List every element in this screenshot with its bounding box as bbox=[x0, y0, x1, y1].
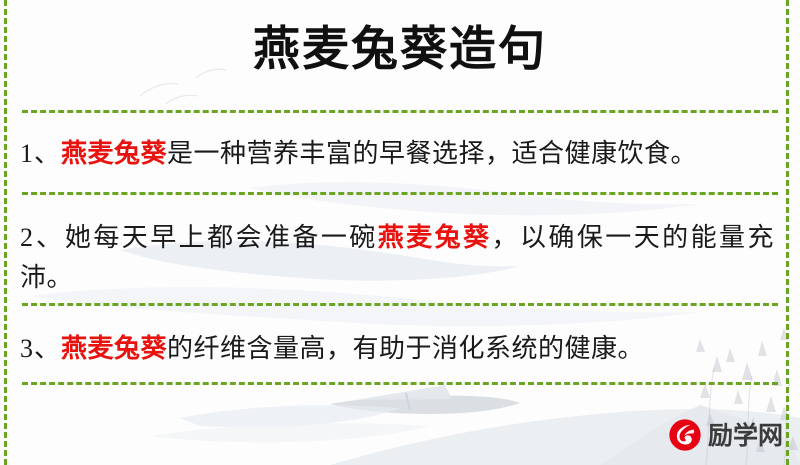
sentence-number-3: 3、 bbox=[20, 334, 61, 363]
keyword-highlight-3: 燕麦兔葵 bbox=[61, 334, 167, 363]
sentence-item-3: 3、燕麦兔葵的纤维含量高，有助于消化系统的健康。 bbox=[20, 329, 774, 369]
divider-3 bbox=[22, 303, 778, 306]
sentence-number-2: 2、 bbox=[20, 223, 65, 252]
sentence-text-before-2: 她每天早上都会准备一碗 bbox=[65, 223, 378, 252]
sentence-text-after-3: 的纤维含量高，有助于消化系统的健康。 bbox=[167, 334, 644, 363]
sentence-number-1: 1、 bbox=[20, 139, 61, 168]
flame-swirl-logo-icon bbox=[668, 418, 702, 452]
site-watermark: 励学网 bbox=[668, 418, 783, 452]
worksheet-page: 燕麦兔葵造句 1、燕麦兔葵是一种营养丰富的早餐选择，适合健康饮食。 2、她每天早… bbox=[0, 0, 800, 465]
sentence-text-after-1: 是一种营养丰富的早餐选择，适合健康饮食。 bbox=[167, 139, 697, 168]
watermark-text: 励学网 bbox=[708, 423, 783, 448]
divider-1 bbox=[22, 110, 778, 113]
divider-2 bbox=[22, 192, 778, 195]
divider-4 bbox=[22, 382, 778, 385]
sentence-item-2: 2、她每天早上都会准备一碗燕麦兔葵，以确保一天的能量充沛。 bbox=[20, 218, 774, 298]
page-title: 燕麦兔葵造句 bbox=[0, 24, 800, 76]
keyword-highlight-2: 燕麦兔葵 bbox=[378, 223, 492, 252]
keyword-highlight-1: 燕麦兔葵 bbox=[61, 139, 167, 168]
sentence-item-1: 1、燕麦兔葵是一种营养丰富的早餐选择，适合健康饮食。 bbox=[20, 134, 774, 174]
